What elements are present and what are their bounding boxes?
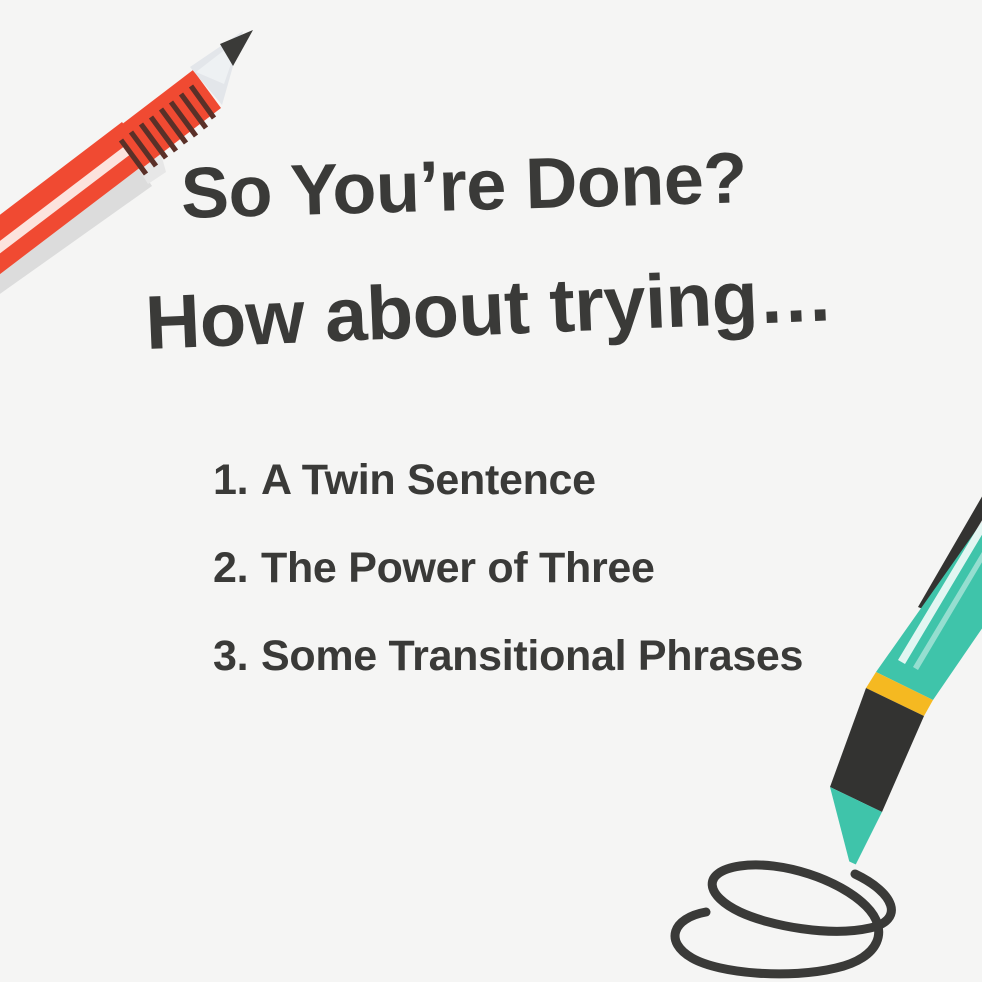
- list-item: 2. The Power of Three: [213, 544, 803, 593]
- page-title-line-1: So You’re Done?: [180, 142, 748, 230]
- list-item-number: 3.: [213, 632, 261, 681]
- list-item-number: 2.: [213, 544, 261, 593]
- list-item: 1. A Twin Sentence: [213, 456, 803, 505]
- list-item-number: 1.: [213, 456, 261, 505]
- list-item-label: Some Transitional Phrases: [261, 632, 803, 681]
- list-item-label: A Twin Sentence: [261, 456, 596, 505]
- poster-canvas: So You’re Done? How about trying… 1. A T…: [0, 0, 982, 982]
- list-item: 3. Some Transitional Phrases: [213, 632, 803, 681]
- suggestions-list: 1. A Twin Sentence 2. The Power of Three…: [213, 456, 803, 681]
- page-title-line-2: How about trying…: [144, 257, 835, 362]
- list-item-label: The Power of Three: [261, 544, 655, 593]
- text-layer: So You’re Done? How about trying… 1. A T…: [0, 0, 982, 982]
